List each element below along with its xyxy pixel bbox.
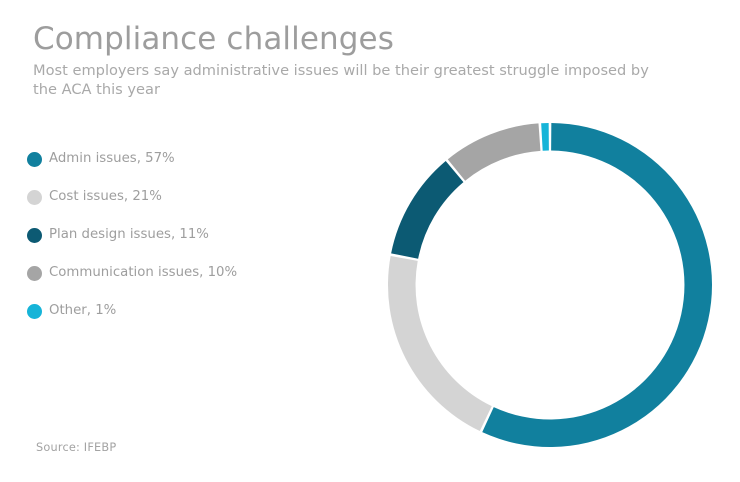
donut-chart-svg — [387, 122, 713, 448]
legend-item-label: Communication issues, 10% — [49, 265, 237, 281]
legend-swatch-plan-design-issues — [27, 228, 42, 243]
legend-item[interactable]: Other, 1% — [27, 292, 327, 330]
legend-item[interactable]: Cost issues, 21% — [27, 178, 327, 216]
legend-swatch-communication-issues — [27, 266, 42, 281]
legend-item-label: Other, 1% — [49, 303, 116, 319]
legend-item-label: Cost issues, 21% — [49, 189, 162, 205]
donut-slice[interactable] — [448, 123, 541, 180]
legend-swatch-admin-issues — [27, 152, 42, 167]
chart-canvas: Compliance challenges Most employers say… — [0, 0, 740, 482]
chart-legend: Admin issues, 57%Cost issues, 21%Plan de… — [27, 140, 327, 330]
legend-swatch-cost-issues — [27, 190, 42, 205]
chart-header: Compliance challenges Most employers say… — [33, 20, 683, 99]
chart-subtitle: Most employers say administrative issues… — [33, 61, 658, 99]
donut-slice[interactable] — [482, 123, 712, 447]
source-note: Source: IFEBP — [36, 441, 116, 454]
legend-item[interactable]: Communication issues, 10% — [27, 254, 327, 292]
page-title: Compliance challenges — [33, 20, 683, 58]
donut-chart — [387, 122, 713, 448]
legend-item-label: Plan design issues, 11% — [49, 227, 209, 243]
legend-item[interactable]: Plan design issues, 11% — [27, 216, 327, 254]
donut-slice[interactable] — [388, 256, 492, 431]
legend-item[interactable]: Admin issues, 57% — [27, 140, 327, 178]
donut-slice[interactable] — [541, 123, 549, 151]
legend-swatch-other — [27, 304, 42, 319]
legend-item-label: Admin issues, 57% — [49, 151, 175, 167]
donut-slice[interactable] — [391, 161, 463, 259]
